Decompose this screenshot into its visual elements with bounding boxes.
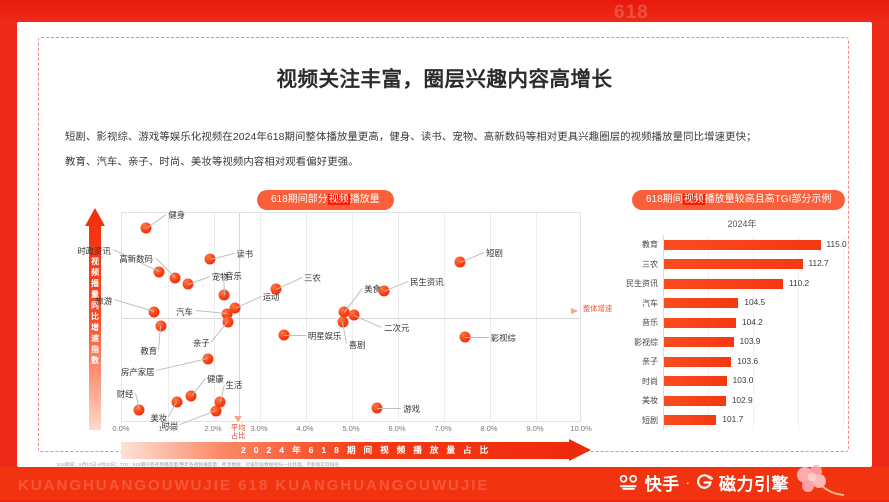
- scatter-point-label: 明星娱乐: [308, 330, 342, 342]
- page-title: 视频关注丰富，圈层兴趣内容高增长: [17, 62, 872, 92]
- bar-category-label: 影视综: [634, 337, 658, 348]
- y-axis-label-char: 频: [90, 267, 100, 278]
- scatter-point-label: 亲子: [193, 337, 210, 349]
- bar-row[interactable]: 音乐104.2: [663, 313, 843, 333]
- bar-fill: [664, 318, 736, 328]
- scatter-point-label: 高新数码: [119, 253, 153, 265]
- bar-fill: [664, 279, 783, 289]
- bar-row[interactable]: 短剧101.7: [663, 411, 843, 431]
- scatter-gridline: [398, 213, 399, 421]
- footer-bar: KUANGHUANGOUWUJIE 618 KUANGHUANGOUWUJIE …: [0, 467, 889, 500]
- bar-value-label: 110.2: [789, 278, 809, 288]
- bar-value-label: 103.6: [737, 356, 758, 366]
- avg-marker-arrow-icon: [234, 416, 242, 422]
- x-axis-tick: 2.0%: [204, 424, 221, 433]
- x-axis-tick: 1.0%: [158, 424, 175, 433]
- scatter-plot-area: 健身时政资讯高新数码读书宠物音乐运动汽车旅游教育亲子房产家居财经美妆健康时尚生活…: [121, 212, 581, 422]
- scatter-point-label: 财经: [117, 388, 134, 400]
- scatter-point-label: 读书: [236, 248, 253, 260]
- x-axis-tick: 5.0%: [342, 424, 359, 433]
- content-card: 视频关注丰富，圈层兴趣内容高增长 短剧、影视综、游戏等娱乐化视频在2024年61…: [17, 22, 872, 467]
- avg-marker-line: 占比: [223, 432, 253, 440]
- overall-arrow-icon: [571, 308, 578, 314]
- bar-fill: [664, 259, 803, 269]
- bar-category-label: 三农: [642, 259, 658, 270]
- y-axis-label-char: 比: [90, 311, 100, 322]
- description-line-2: 教育、汽车、亲子、时尚、美妆等视频内容相对观看偏好更强。: [65, 153, 855, 168]
- brand-lockup: 快手 · 磁力引擎: [619, 470, 789, 495]
- overall-growth-label: 整体增速: [583, 304, 612, 313]
- bar-value-label: 104.2: [742, 317, 763, 327]
- scatter-point-label: 短剧: [486, 247, 503, 259]
- bar-value-label: 101.7: [722, 414, 743, 424]
- bar-fill: [664, 396, 726, 406]
- bar-value-label: 115.0: [827, 239, 847, 249]
- brand-kuaishou-label: 快手: [645, 470, 680, 495]
- y-axis-label-char: 视: [90, 256, 100, 267]
- x-axis-tick: 6.0%: [388, 424, 405, 433]
- bar-row[interactable]: 时尚103.0: [663, 372, 843, 392]
- bar-row[interactable]: 三农112.7: [663, 255, 843, 275]
- bar-row[interactable]: 教育115.0: [663, 235, 843, 255]
- bar-row[interactable]: 亲子103.6: [663, 352, 843, 372]
- bar-category-label: 教育: [642, 239, 658, 250]
- bar-category-label: 短剧: [642, 415, 658, 426]
- bar-category-label: 亲子: [642, 356, 658, 367]
- slide-root: 618 视频关注丰富，圈层兴趣内容高增长 短剧、影视综、游戏等娱乐化视频在202…: [0, 0, 889, 500]
- y-axis-label-char: 数: [90, 355, 100, 366]
- watermark-top: 618: [614, 2, 649, 24]
- x-axis-ticks: 0.0%1.0%2.0%3.0%4.0%5.0%6.0%7.0%8.0%9.0%…: [121, 424, 581, 438]
- bar-fill: [664, 376, 727, 386]
- scatter-leader-line: [377, 408, 401, 409]
- scatter-point-label: 喜剧: [349, 339, 366, 351]
- y-axis-label-char: 速: [90, 333, 100, 344]
- scatter-gridline: [260, 213, 261, 421]
- x-banner-arrow-icon: [569, 439, 591, 461]
- bar-chart-series-title: 2024年: [617, 217, 867, 230]
- bar-value-label: 103.0: [733, 375, 754, 385]
- y-axis-label-char: 播: [90, 278, 100, 289]
- right-badge-suffix: 播放量较高且高TGI部分示例: [705, 194, 832, 205]
- bar-row[interactable]: 民生资讯110.2: [663, 274, 843, 294]
- scatter-leader-line: [114, 299, 154, 312]
- scatter-point-label: 教育: [140, 345, 157, 357]
- x-axis-tick: 7.0%: [434, 424, 451, 433]
- x-axis-banner: 2 0 2 4 年 6 1 8 期 间 视 频 播 放 量 占 比: [121, 442, 591, 459]
- scatter-point-label: 时政资讯: [77, 245, 111, 257]
- scatter-leader-line: [276, 277, 302, 290]
- bar-value-label: 104.5: [744, 297, 765, 307]
- bar-fill: [664, 415, 716, 425]
- scatter-point-label: 音乐: [225, 270, 242, 282]
- scatter-gridline: [444, 213, 445, 421]
- y-axis-label: 视频播量同比增速指数: [90, 256, 100, 366]
- bar-row[interactable]: 影视综103.9: [663, 333, 843, 353]
- y-axis-label-char: 指: [90, 344, 100, 355]
- bar-value-label: 103.9: [740, 336, 761, 346]
- scatter-point-label: 民生资讯: [410, 276, 444, 288]
- y-axis-label-char: 增: [90, 322, 100, 333]
- scatter-leader-line: [354, 315, 382, 328]
- bar-category-label: 美妆: [642, 395, 658, 406]
- bar-gridline: [843, 235, 844, 430]
- bar-fill: [664, 357, 731, 367]
- scatter-leader-line: [156, 358, 208, 371]
- bar-row[interactable]: 美妆102.9: [663, 391, 843, 411]
- bar-category-label: 民生资讯: [626, 278, 658, 289]
- scatter-point-label: 房产家居: [121, 366, 155, 378]
- ciliqingqing-logo-icon: [696, 474, 713, 491]
- scatter-point-label: 健身: [168, 209, 185, 221]
- scatter-gridline: [168, 213, 169, 421]
- flower-decoration-icon: [789, 462, 851, 502]
- kuaishou-logo-icon: [619, 475, 639, 490]
- x-axis-tick: 0.0%: [112, 424, 129, 433]
- scatter-point[interactable]: [156, 321, 167, 332]
- watermark-bottom: KUANGHUANGOUWUJIE 618 KUANGHUANGOUWUJIE: [18, 477, 489, 494]
- scatter-point-label: 健康: [207, 373, 224, 385]
- bar-category-label: 音乐: [642, 317, 658, 328]
- y-axis-arrow: 视频播量同比增速指数: [85, 208, 105, 430]
- bar-fill: [664, 337, 734, 347]
- scatter-point-label: 游戏: [403, 403, 420, 415]
- bar-chart: 2024年 教育115.0三农112.7民生资讯110.2汽车104.5音乐10…: [617, 217, 867, 437]
- scatter-gridline: [214, 213, 215, 421]
- bar-chart-plot-area: 教育115.0三农112.7民生资讯110.2汽车104.5音乐104.2影视综…: [663, 235, 843, 430]
- bar-fill: [664, 240, 821, 250]
- bar-category-label: 时尚: [642, 376, 658, 387]
- brand-separator: ·: [686, 475, 690, 490]
- scatter-point-label: 旅游: [95, 295, 112, 307]
- bar-value-label: 102.9: [732, 395, 753, 405]
- scatter-chart: 视频播量同比增速指数 健身时政资讯高新数码读书宠物音乐运动汽车旅游教育亲子房产家…: [77, 202, 587, 457]
- bar-category-label: 汽车: [642, 298, 658, 309]
- scatter-point-label: 生活: [226, 379, 243, 391]
- x-axis-tick: 9.0%: [526, 424, 543, 433]
- bar-fill: [664, 298, 738, 308]
- x-axis-tick: 4.0%: [296, 424, 313, 433]
- description-line-1: 短剧、影视综、游戏等娱乐化视频在2024年618期间整体播放量更高，健身、读书、…: [65, 128, 855, 143]
- scatter-point-label: 二次元: [384, 322, 409, 334]
- right-badge-highlight: 视频: [683, 194, 705, 205]
- scatter-point-label: 三农: [304, 272, 321, 284]
- scatter-point[interactable]: [134, 405, 145, 416]
- x-axis-tick: 10.0%: [570, 424, 592, 433]
- right-badge-prefix: 618期间: [646, 194, 683, 205]
- scatter-gridline: [490, 213, 491, 421]
- avg-share-marker: 平均占比: [223, 424, 253, 440]
- scatter-gridline: [306, 213, 307, 421]
- scatter-gridline: [536, 213, 537, 421]
- bar-row[interactable]: 汽车104.5: [663, 294, 843, 314]
- scatter-point[interactable]: [149, 306, 160, 317]
- x-axis-label: 2 0 2 4 年 6 1 8 期 间 视 频 播 放 量 占 比: [241, 442, 491, 459]
- bar-value-label: 112.7: [809, 258, 829, 268]
- x-axis-tick: 8.0%: [480, 424, 497, 433]
- scatter-point-label: 影视综: [491, 332, 516, 344]
- scatter-leader-line: [465, 337, 489, 338]
- scatter-leader-line: [146, 214, 167, 229]
- brand-cili-label: 磁力引擎: [719, 470, 789, 495]
- scatter-point-label: 汽车: [176, 306, 193, 318]
- right-chart-badge: 618期间视频播放量较高且高TGI部分示例: [632, 190, 845, 210]
- scatter-leader-line: [191, 378, 206, 397]
- scatter-leader-line: [284, 335, 306, 336]
